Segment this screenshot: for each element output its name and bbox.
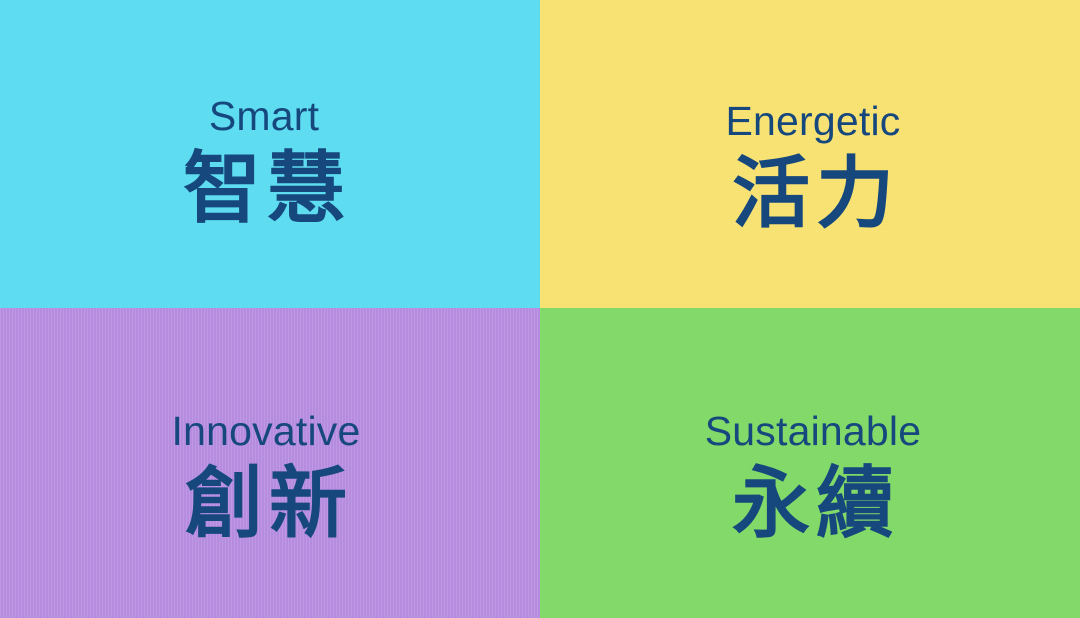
- label-zh-sustainable: 永續: [543, 464, 1080, 544]
- label-en-sustainable: Sustainable: [543, 411, 1080, 452]
- label-stack-energetic: Energetic 活力: [543, 101, 1080, 234]
- quadrant-smart[interactable]: Smart 智慧: [0, 0, 540, 308]
- label-zh-smart: 智慧: [0, 149, 534, 229]
- label-en-smart: Smart: [0, 96, 534, 137]
- brand-values-canvas: Smart 智慧 Energetic 活力 Innovative 創新 Sust…: [0, 0, 1080, 618]
- label-stack-innovative: Innovative 創新: [0, 411, 536, 544]
- quadrant-energetic[interactable]: Energetic 活力: [540, 0, 1080, 308]
- quadrant-innovative[interactable]: Innovative 創新: [0, 308, 540, 618]
- quadrant-sustainable[interactable]: Sustainable 永續: [540, 308, 1080, 618]
- label-stack-sustainable: Sustainable 永續: [543, 411, 1080, 544]
- label-stack-smart: Smart 智慧: [0, 96, 534, 229]
- label-zh-innovative: 創新: [0, 464, 536, 544]
- label-en-innovative: Innovative: [0, 411, 536, 452]
- label-zh-energetic: 活力: [543, 154, 1080, 234]
- label-en-energetic: Energetic: [543, 101, 1080, 142]
- quadrant-grid: Smart 智慧 Energetic 活力 Innovative 創新 Sust…: [0, 0, 1080, 618]
